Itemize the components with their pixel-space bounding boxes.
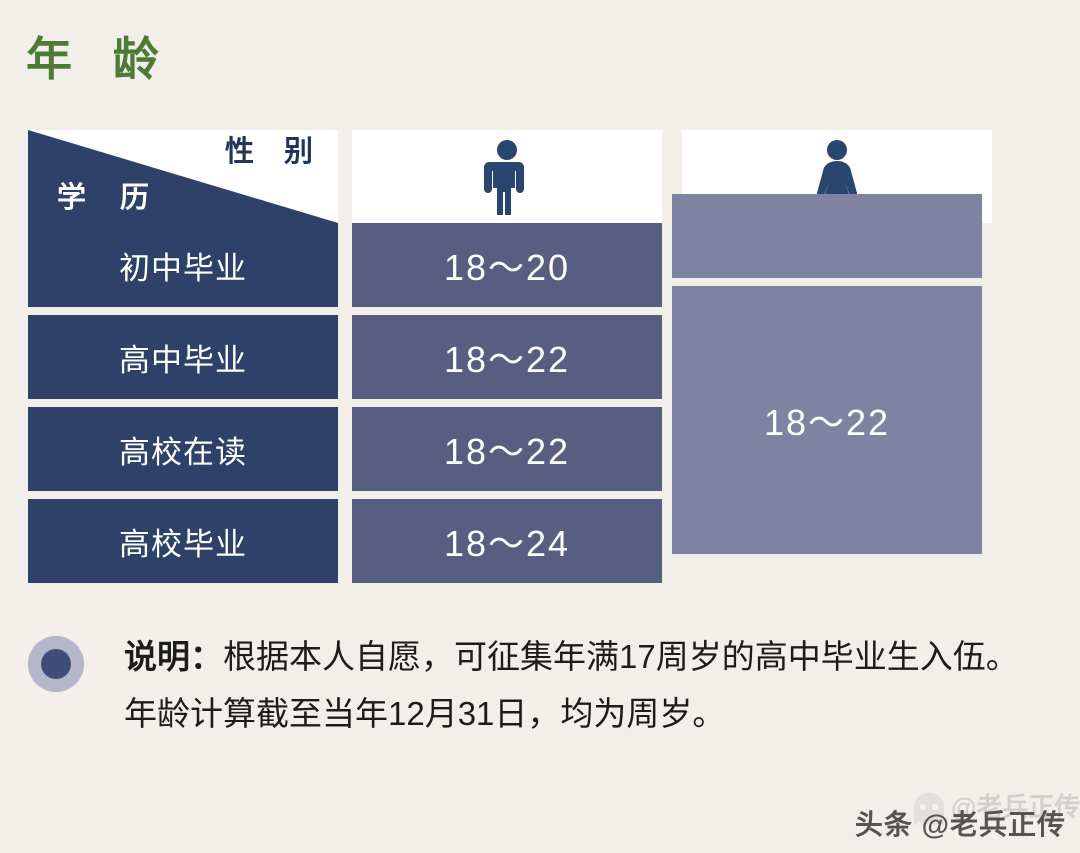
gender-header-label: 性 别: [214, 138, 324, 167]
education-cell: 高中毕业: [28, 315, 338, 399]
male-person-icon: [483, 139, 531, 215]
ghost-avatar-icon: [907, 789, 951, 833]
watermark: @老兵正传 头条 @老兵正传: [855, 803, 1066, 843]
male-age-cell: 18～20: [352, 223, 662, 307]
table-corner-header-cell: 性 别 学 历: [28, 130, 338, 223]
male-header-cell: [352, 130, 662, 223]
male-age-cell: 18～22: [352, 315, 662, 399]
page-title: 年 龄: [26, 36, 173, 82]
female-empty-cell: [672, 194, 982, 278]
note-text: 说明：根据本人自愿，可征集年满17周岁的高中毕业生入伍。年龄计算截至当年12月3…: [124, 628, 1029, 742]
note-label: 说明：: [124, 638, 223, 675]
female-column-merged-group: 18～22: [672, 194, 982, 554]
note-body: 根据本人自愿，可征集年满17周岁的高中毕业生入伍。年龄计算截至当年12月31日，…: [124, 638, 1019, 732]
education-header-label: 学 历: [44, 184, 162, 213]
filled-circle-bullet-icon: [28, 636, 84, 692]
education-cell: 高校毕业: [28, 499, 338, 583]
note-block: 说明：根据本人自愿，可征集年满17周岁的高中毕业生入伍。年龄计算截至当年12月3…: [28, 628, 1038, 742]
bullet-inner-dot: [41, 649, 71, 679]
education-cell: 初中毕业: [28, 223, 338, 307]
education-cell: 高校在读: [28, 407, 338, 491]
female-merged-age-cell: 18～22: [672, 286, 982, 554]
watermark-ghost-text: @老兵正传: [951, 787, 1080, 824]
watermark-text: 头条 @老兵正传: [855, 803, 1066, 843]
male-age-cell: 18～24: [352, 499, 662, 583]
male-age-cell: 18～22: [352, 407, 662, 491]
